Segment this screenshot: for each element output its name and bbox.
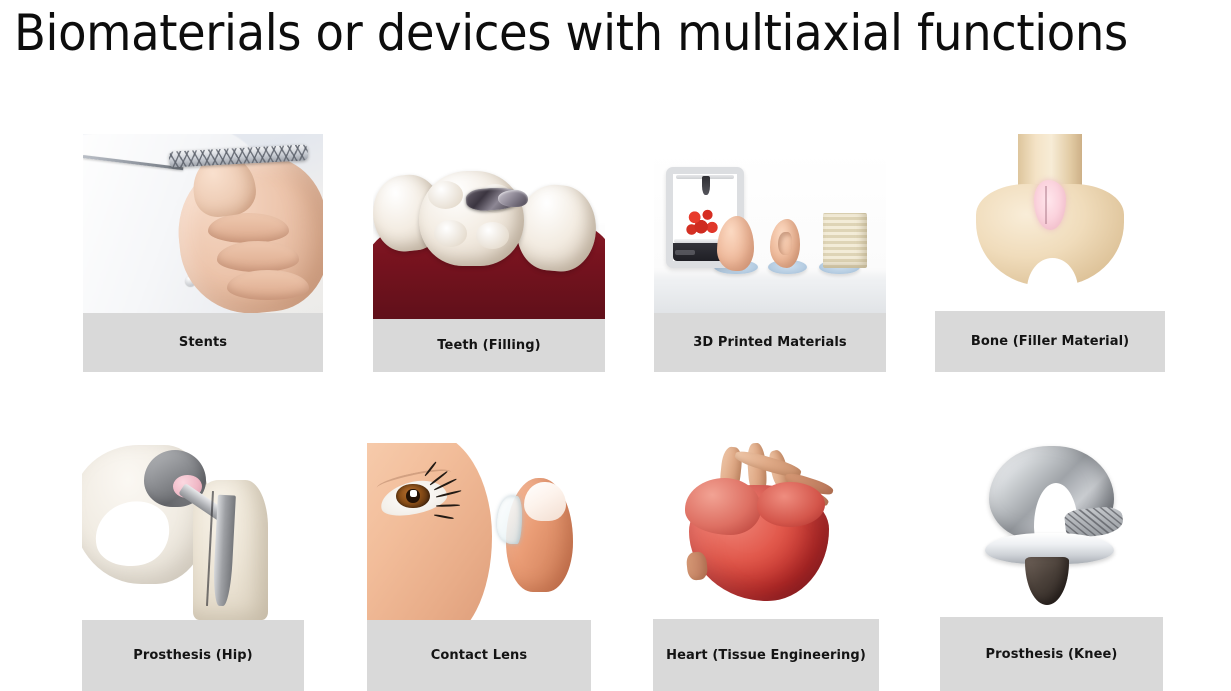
card-prosthesis-hip[interactable]: Prosthesis (Hip) — [82, 441, 304, 691]
card-teeth-filling[interactable]: Teeth (Filling) — [373, 147, 605, 372]
card-3d-printed-materials-label: 3D Printed Materials — [693, 335, 846, 350]
card-bone-filler-material-image — [935, 134, 1165, 311]
card-teeth-filling-image — [373, 147, 605, 319]
card-contact-lens-image — [367, 443, 591, 620]
card-prosthesis-hip-label: Prosthesis (Hip) — [133, 648, 252, 663]
card-contact-lens[interactable]: Contact Lens — [367, 443, 591, 691]
card-stents-label: Stents — [179, 335, 227, 350]
card-bone-filler-material-caption: Bone (Filler Material) — [935, 311, 1165, 372]
card-bone-filler-material[interactable]: Bone (Filler Material) — [935, 134, 1165, 372]
card-prosthesis-knee-image — [940, 441, 1163, 617]
card-prosthesis-hip-caption: Prosthesis (Hip) — [82, 620, 304, 691]
card-3d-printed-materials-image — [654, 151, 886, 313]
card-stents[interactable]: Stents — [83, 134, 323, 372]
card-prosthesis-knee-caption: Prosthesis (Knee) — [940, 617, 1163, 691]
card-prosthesis-hip-image — [82, 441, 304, 620]
card-heart-tissue-engineering[interactable]: Heart (Tissue Engineering) — [653, 443, 879, 691]
card-stents-image — [83, 134, 323, 313]
card-3d-printed-materials-caption: 3D Printed Materials — [654, 313, 886, 372]
card-contact-lens-caption: Contact Lens — [367, 620, 591, 691]
card-prosthesis-knee-label: Prosthesis (Knee) — [986, 647, 1118, 662]
card-heart-tissue-engineering-caption: Heart (Tissue Engineering) — [653, 619, 879, 691]
card-teeth-filling-label: Teeth (Filling) — [437, 338, 540, 353]
card-heart-tissue-engineering-image — [653, 443, 879, 619]
card-teeth-filling-caption: Teeth (Filling) — [373, 319, 605, 372]
card-contact-lens-label: Contact Lens — [431, 648, 527, 663]
card-bone-filler-material-label: Bone (Filler Material) — [971, 334, 1129, 349]
card-3d-printed-materials[interactable]: 3D Printed Materials — [654, 151, 886, 372]
card-grid: Stents Teeth (Filling) — [0, 0, 1231, 691]
card-prosthesis-knee[interactable]: Prosthesis (Knee) — [940, 441, 1163, 691]
card-stents-caption: Stents — [83, 313, 323, 372]
card-heart-tissue-engineering-label: Heart (Tissue Engineering) — [666, 648, 866, 663]
